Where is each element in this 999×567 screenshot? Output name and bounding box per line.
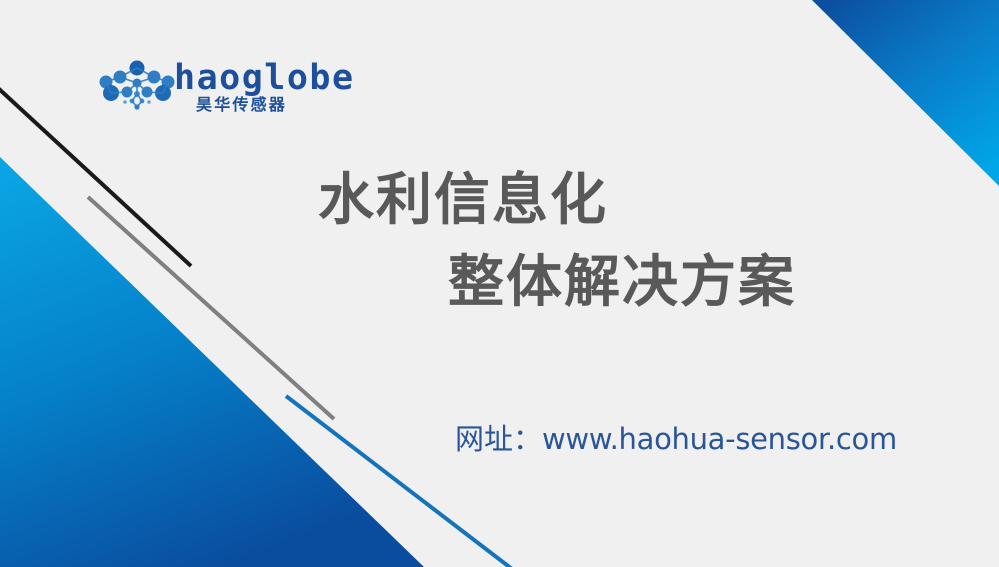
logo-wordmark: haoglobe [174,58,355,98]
company-logo: haoglobe 昊华传感器 [98,58,313,120]
website-url[interactable]: www.haohua-sensor.com [542,422,897,456]
title-slide: haoglobe 昊华传感器 水利信息化 整体解决方案 网址：www.haohu… [0,0,999,567]
website-label: 网址： [455,422,542,456]
logo-subtitle: 昊华传感器 [196,95,287,115]
page-title-line-1: 水利信息化 [300,160,900,242]
haoglobe-network-node-icon [98,60,176,116]
page-title: 水利信息化 整体解决方案 [300,160,900,324]
website-line: 网址：www.haohua-sensor.com [455,418,897,460]
page-title-line-2: 整体解决方案 [300,242,900,324]
